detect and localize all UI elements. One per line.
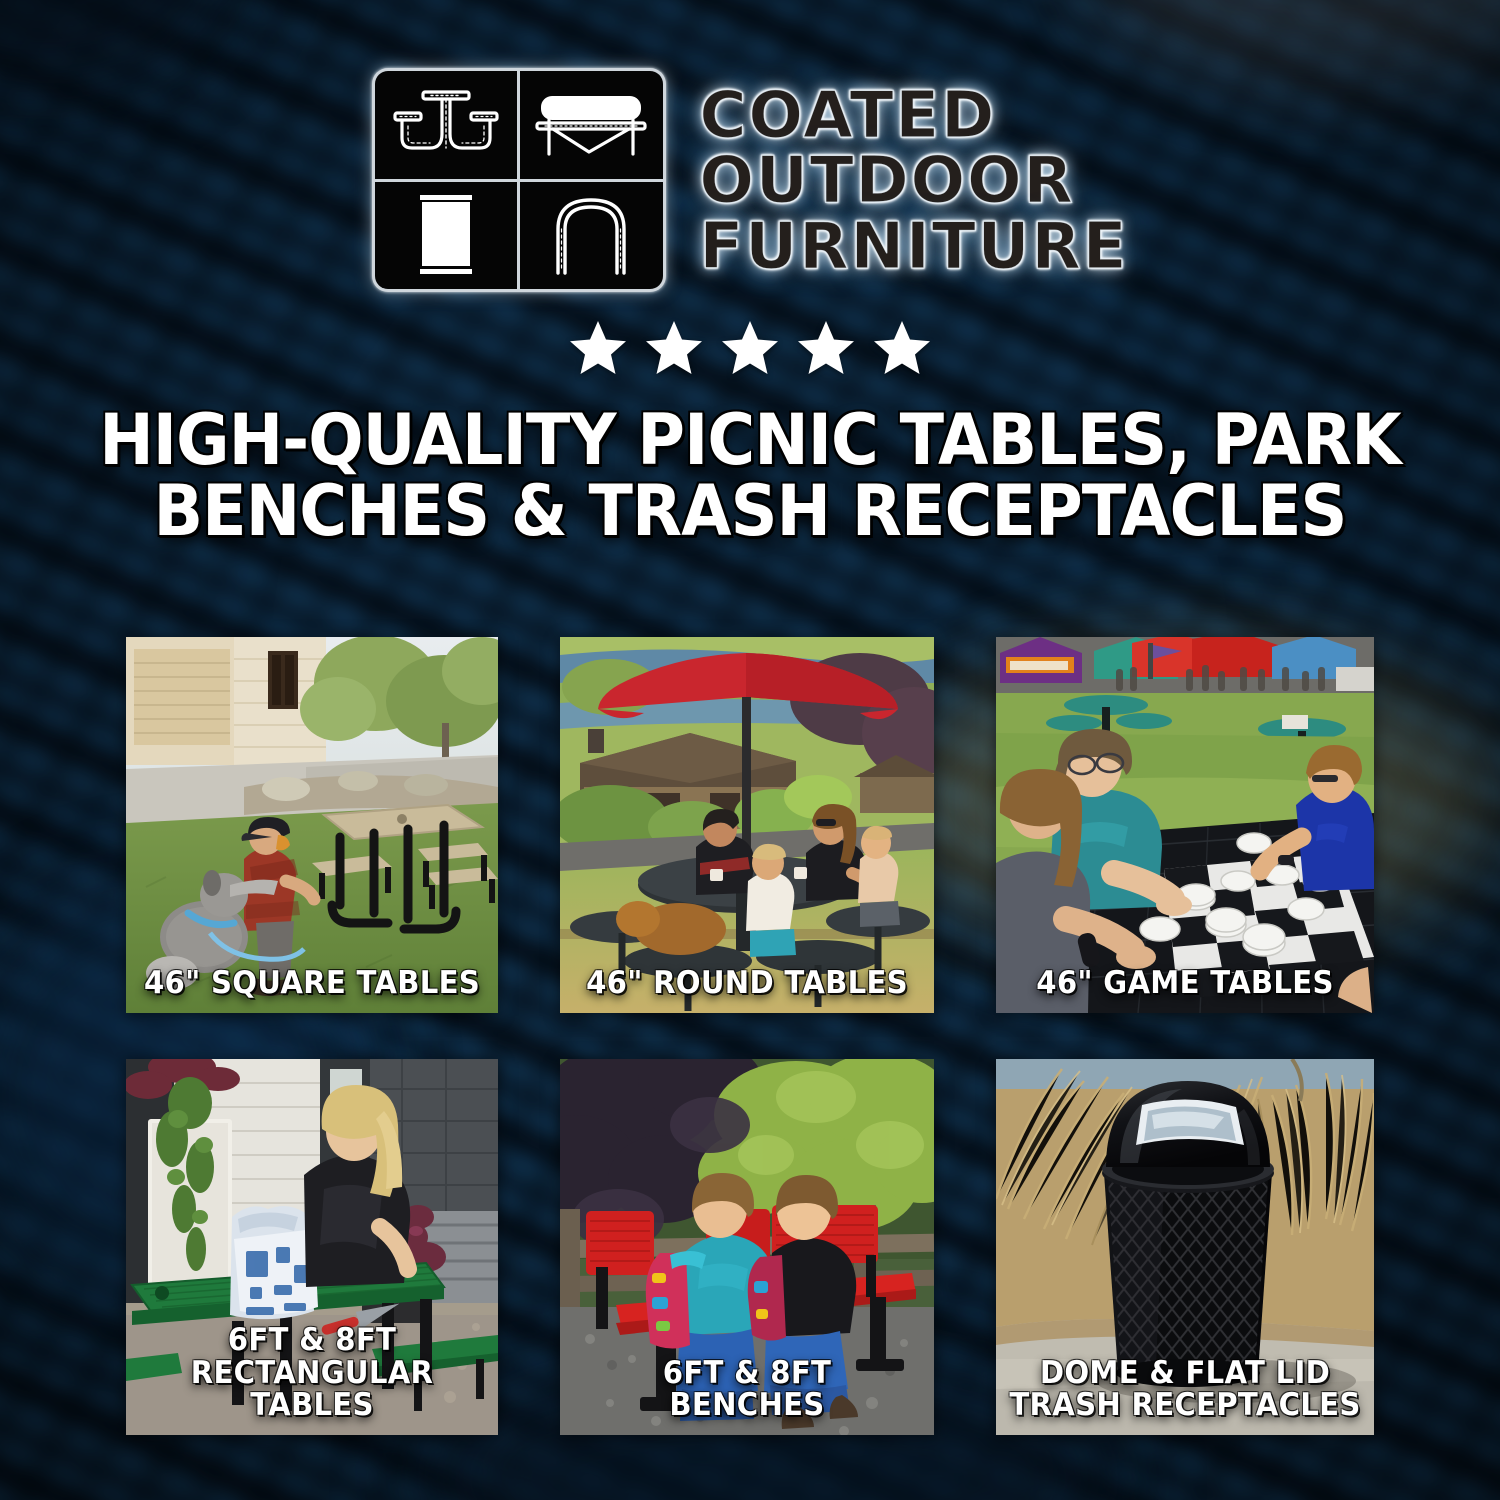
star-icon xyxy=(719,318,781,378)
product-tile-trash-receptacles[interactable]: DOME & FLAT LID TRASH RECEPTACLES xyxy=(996,1059,1374,1435)
logo-cell-trash-receptacle xyxy=(375,182,518,290)
product-tile-game-tables[interactable]: 46" GAME TABLES xyxy=(996,637,1374,1013)
product-tile-rectangular-tables[interactable]: 6FT & 8FT RECTANGULAR TABLES xyxy=(126,1059,498,1435)
product-tile-caption: 46" GAME TABLES xyxy=(1007,967,1362,999)
caption-line-1: 46" ROUND TABLES xyxy=(586,965,908,1001)
product-tile-benches[interactable]: 6FT & 8FT BENCHES xyxy=(560,1059,934,1435)
star-icon xyxy=(871,318,933,378)
product-tile-caption: 46" SQUARE TABLES xyxy=(137,967,487,999)
brand-wordmark: COATED OUTDOOR FURNITURE xyxy=(700,82,1129,278)
brand-header: COATED OUTDOOR FURNITURE xyxy=(0,0,1500,292)
caption-line-2: RECTANGULAR TABLES xyxy=(137,1357,487,1421)
headline-line-1: HIGH-QUALITY PICNIC TABLES, PARK xyxy=(53,405,1448,476)
product-tile-caption: 6FT & 8FT RECTANGULAR TABLES xyxy=(137,1324,487,1421)
page-headline: HIGH-QUALITY PICNIC TABLES, PARK BENCHES… xyxy=(53,405,1448,548)
product-photo-round-tables xyxy=(560,637,934,1013)
logo-cell-picnic-table xyxy=(375,71,518,179)
bike-rack-arch-icon xyxy=(548,189,634,281)
logo-cell-bike-rack xyxy=(520,182,663,290)
star-icon xyxy=(643,318,705,378)
product-tile-square-tables[interactable]: 46" SQUARE TABLES xyxy=(126,637,498,1013)
caption-line-1: DOME & FLAT LID xyxy=(1040,1355,1330,1391)
caption-line-1: 6FT & 8FT xyxy=(228,1322,396,1358)
caption-line-1: 46" SQUARE TABLES xyxy=(144,965,480,1001)
wordmark-line-3: FURNITURE xyxy=(700,217,1129,278)
product-tile-round-tables[interactable]: 46" ROUND TABLES xyxy=(560,637,934,1013)
picnic-table-icon xyxy=(387,86,505,164)
product-photo-square-tables xyxy=(126,637,498,1013)
product-tile-caption: 6FT & 8FT BENCHES xyxy=(571,1357,923,1421)
product-category-grid: 46" SQUARE TABLES xyxy=(126,637,1382,1435)
caption-line-2: BENCHES xyxy=(571,1389,923,1421)
wordmark-line-2: OUTDOOR xyxy=(700,151,1129,212)
bench-icon xyxy=(532,86,650,164)
wordmark-line-1: COATED xyxy=(700,86,1129,147)
logo-mark xyxy=(372,68,666,292)
product-photo-game-tables xyxy=(996,637,1374,1013)
star-icon xyxy=(795,318,857,378)
star-icon xyxy=(567,318,629,378)
star-rating xyxy=(0,318,1500,383)
caption-line-1: 6FT & 8FT xyxy=(663,1355,831,1391)
caption-line-2: TRASH RECEPTACLES xyxy=(1007,1389,1362,1421)
logo-cell-bench xyxy=(520,71,663,179)
product-tile-caption: DOME & FLAT LID TRASH RECEPTACLES xyxy=(1007,1357,1362,1421)
flat-lid-trash-receptacle-icon xyxy=(408,189,484,281)
product-tile-caption: 46" ROUND TABLES xyxy=(571,967,923,999)
headline-line-2: BENCHES & TRASH RECEPTACLES xyxy=(53,476,1448,547)
caption-line-1: 46" GAME TABLES xyxy=(1036,965,1333,1001)
